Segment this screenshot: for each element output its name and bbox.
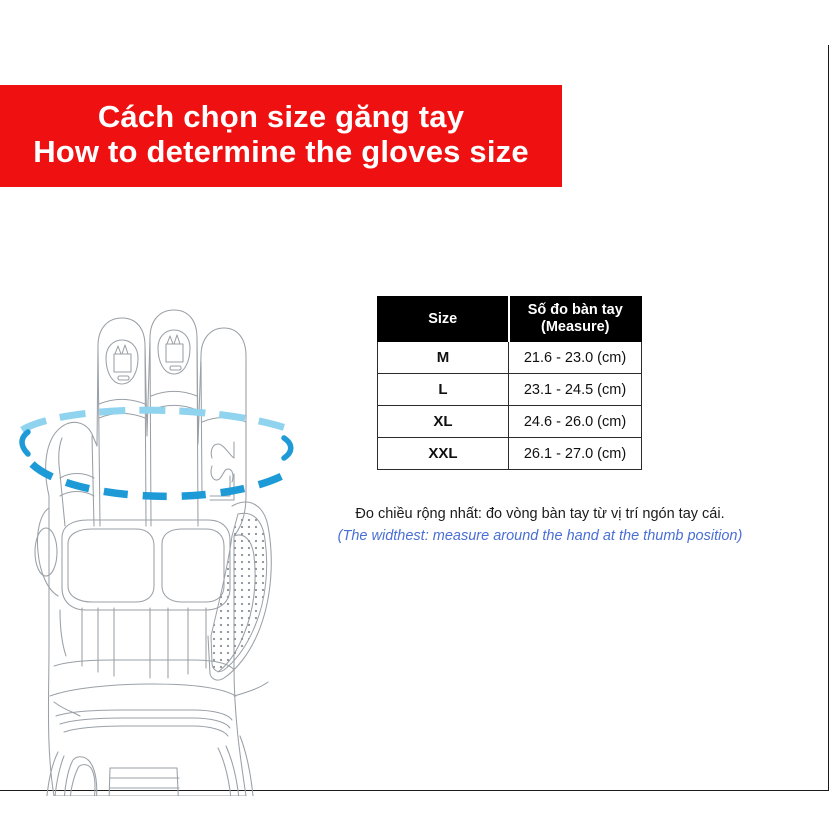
table-header-row: Size Số đo bàn tay (Measure)	[378, 297, 642, 342]
header-measure: Số đo bàn tay (Measure)	[509, 297, 642, 342]
table-row: M 21.6 - 23.0 (cm)	[378, 342, 642, 374]
cell-measure-3: 26.1 - 27.0 (cm)	[509, 438, 642, 470]
caption-english: (The widthest: measure around the hand a…	[280, 526, 800, 548]
title-vietnamese: Cách chọn size găng tay	[98, 100, 464, 135]
caption-vietnamese: Đo chiều rộng nhất: đo vòng bàn tay từ v…	[280, 504, 800, 526]
cell-measure-0: 21.6 - 23.0 (cm)	[509, 342, 642, 374]
cell-size-3: XXL	[378, 438, 509, 470]
cell-size-2: XL	[378, 406, 509, 438]
table-row: XL 24.6 - 26.0 (cm)	[378, 406, 642, 438]
measurement-caption: Đo chiều rộng nhất: đo vòng bàn tay từ v…	[280, 504, 800, 548]
size-table-body: M 21.6 - 23.0 (cm) L 23.1 - 24.5 (cm) XL…	[378, 342, 642, 470]
cell-size-0: M	[378, 342, 509, 374]
glove-svg	[2, 196, 332, 796]
glove-illustration	[2, 196, 332, 796]
glove-outlines	[35, 310, 271, 796]
cell-size-1: L	[378, 374, 509, 406]
cell-measure-1: 23.1 - 24.5 (cm)	[509, 374, 642, 406]
title-banner: Cách chọn size găng tay How to determine…	[0, 85, 562, 187]
cell-measure-2: 24.6 - 26.0 (cm)	[509, 406, 642, 438]
size-table: Size Số đo bàn tay (Measure) M 21.6 - 23…	[377, 296, 642, 470]
sizing-guide-page: Cách chọn size găng tay How to determine…	[0, 0, 834, 834]
title-english: How to determine the gloves size	[33, 135, 529, 170]
table-row: XXL 26.1 - 27.0 (cm)	[378, 438, 642, 470]
header-size: Size	[378, 297, 509, 342]
measure-ellipse-front	[22, 432, 291, 496]
header-measure-vi: Số đo bàn tay	[510, 302, 642, 319]
page-border-right	[828, 45, 829, 791]
table-row: L 23.1 - 24.5 (cm)	[378, 374, 642, 406]
size-table-head: Size Số đo bàn tay (Measure)	[378, 297, 642, 342]
header-measure-en: (Measure)	[510, 319, 642, 336]
